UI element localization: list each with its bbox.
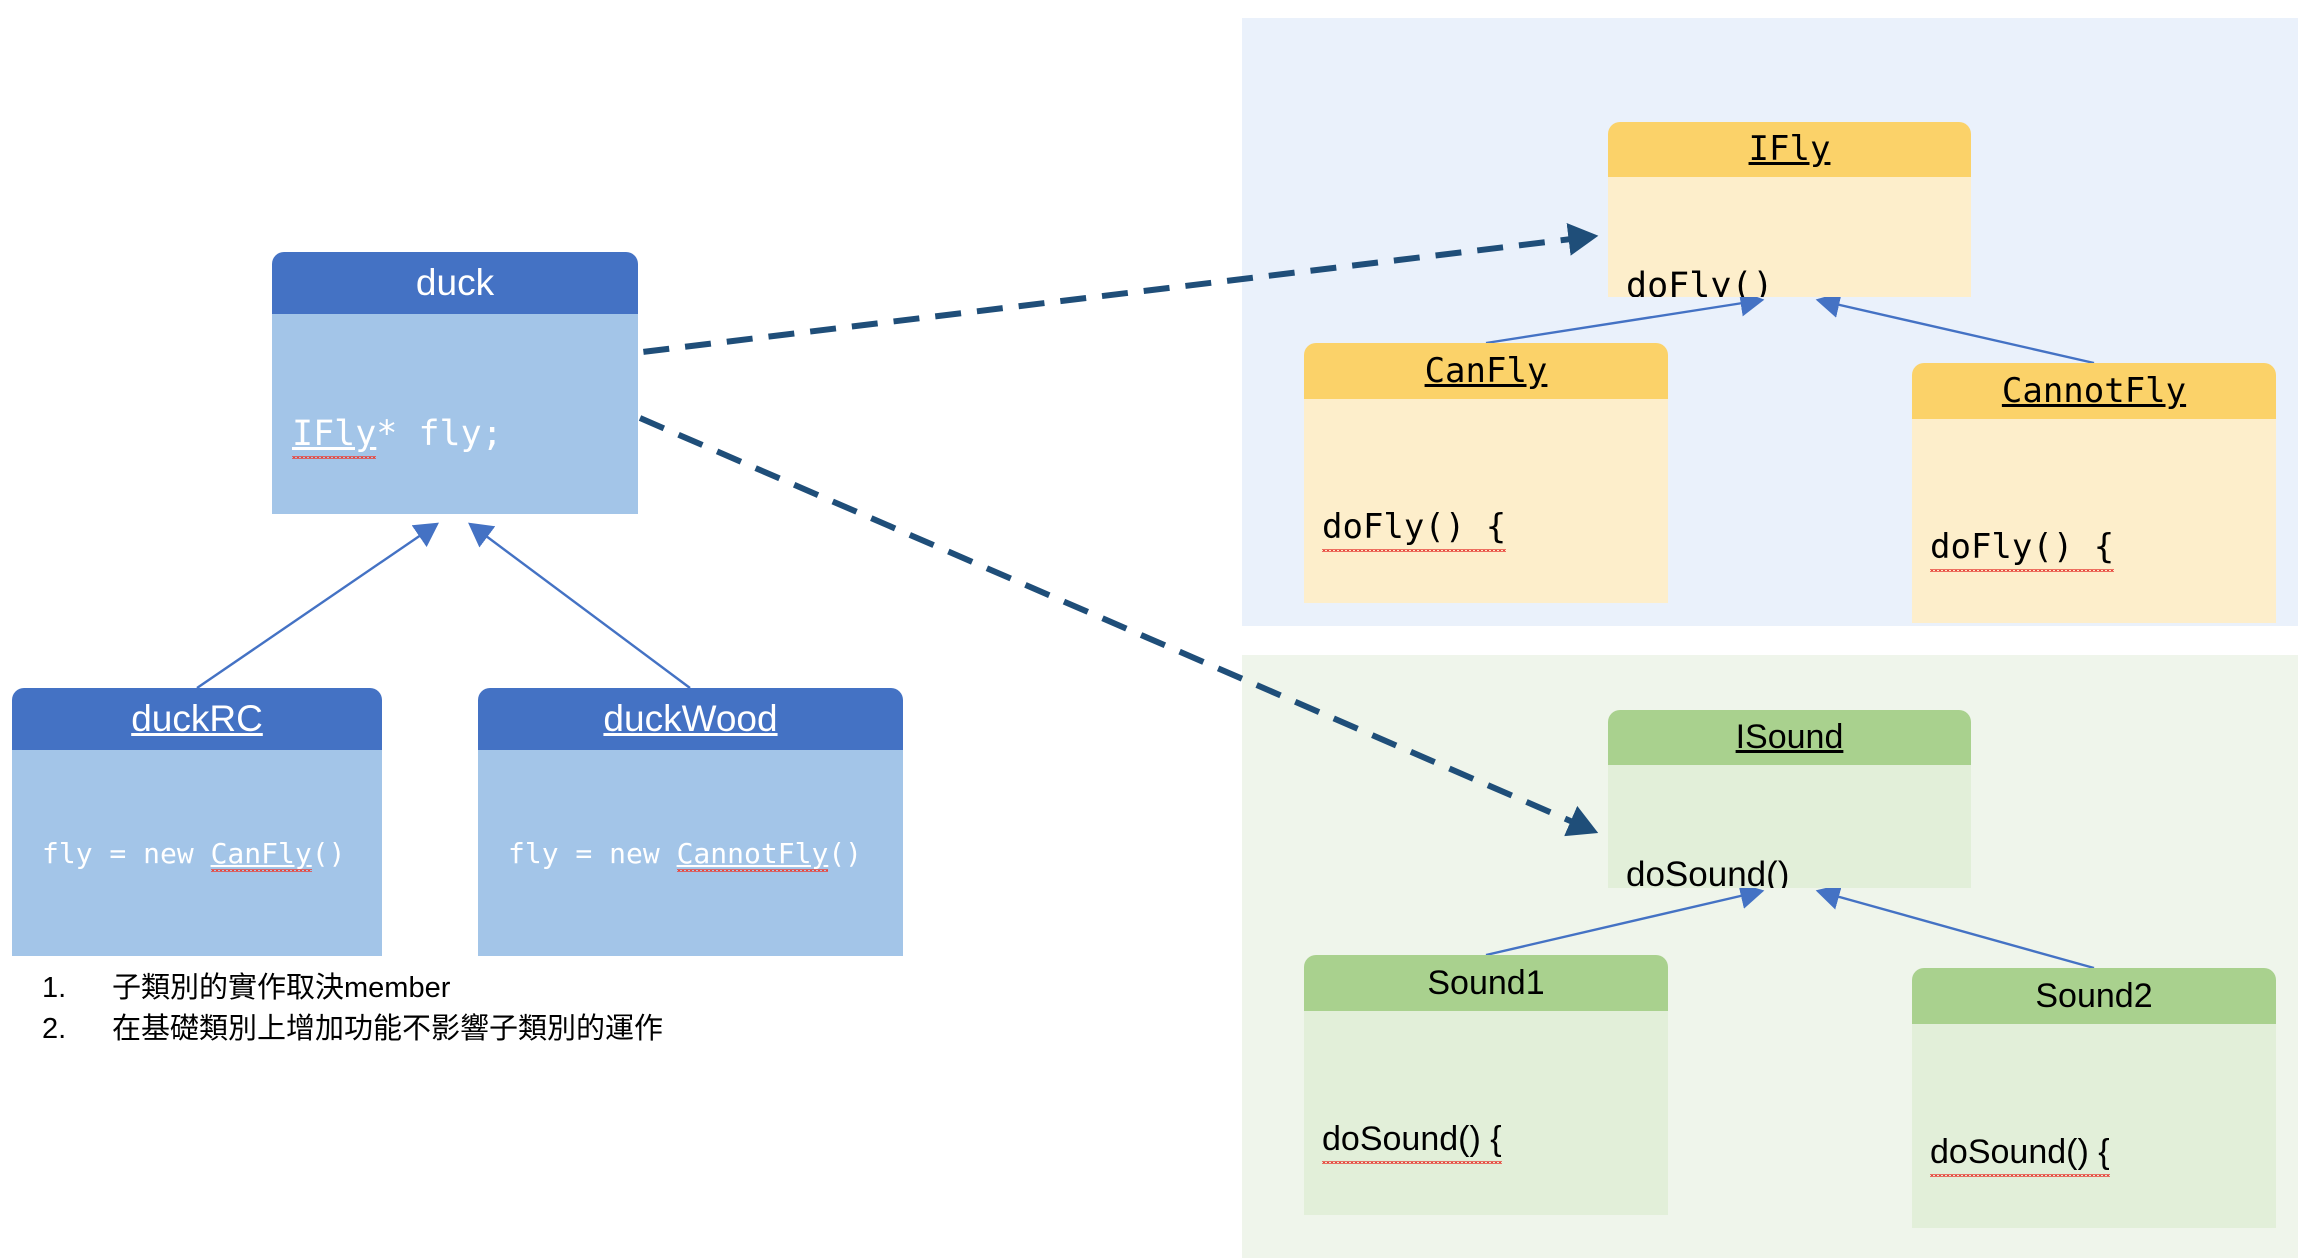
class-body-sound1: doSound() { "Sound1" } [1304,1011,1668,1215]
class-body-ifly: doFly() … [1608,177,1971,297]
duckrc-assign-prefix: fly = new [42,837,211,870]
class-box-sound2[interactable]: Sound2 doSound() { "Sound2" } [1912,968,2276,1228]
duck-attr-fly: IFly* fly; [292,413,638,456]
note-text-2: 在基礎類別上增加功能不影響子類別的運作 [112,1009,663,1050]
class-box-isound[interactable]: ISound doSound() … [1608,710,1971,888]
canfly-signature-text: doFly() { [1322,505,1506,549]
canfly-signature: doFly() { [1322,505,1668,549]
edge-duckwood-to-duck [470,524,690,688]
ifly-method: doFly() [1626,266,1971,297]
notes-list: 1. 子類別的實作取決member 2. 在基礎類別上增加功能不影響子類別的運作 [42,968,663,1050]
duckwood-assign-suffix: () [828,837,862,870]
class-title-isound: ISound [1608,710,1971,765]
class-title-ifly: IFly [1608,122,1971,177]
class-title-duckwood: duckWood [478,688,903,750]
class-body-isound: doSound() … [1608,765,1971,888]
sound2-signature-text: doSound() { [1930,1130,2110,1174]
note-number-2: 2. [42,1009,112,1050]
class-body-canfly: doFly() { "Can fly" } [1304,399,1668,603]
class-title-sound2: Sound2 [1912,968,2276,1024]
class-title-duck: duck [272,252,638,314]
class-box-duckwood[interactable]: duckWood fly = new CannotFly() [478,688,903,956]
class-body-duck: IFly* fly; Isound* sound; … [272,314,638,514]
class-box-duckrc[interactable]: duckRC fly = new CanFly() [12,688,382,956]
list-item: 2. 在基礎類別上增加功能不影響子類別的運作 [42,1009,663,1050]
duckrc-assign-ref: CanFly [211,837,312,870]
note-number-1: 1. [42,968,112,1009]
class-title-isound-text: ISound [1736,710,1844,765]
class-title-cannotfly: CannotFly [1912,363,2276,419]
class-body-duckrc: fly = new CanFly() [12,750,382,956]
class-title-canfly: CanFly [1304,343,1668,399]
class-title-canfly-text: CanFly [1425,343,1548,399]
cannotfly-signature-text: doFly() { [1930,525,2114,569]
class-body-duckwood: fly = new CannotFly() [478,750,903,956]
isound-method: doSound() [1626,854,1971,888]
cannotfly-signature: doFly() { [1930,525,2276,569]
sound2-signature: doSound() { [1930,1130,2276,1174]
class-box-canfly[interactable]: CanFly doFly() { "Can fly" } [1304,343,1668,603]
class-title-duckrc-text: duckRC [131,688,263,750]
class-title-ifly-text: IFly [1749,122,1831,177]
diagram-canvas: duck IFly* fly; Isound* sound; … duckRC … [0,0,2318,1258]
class-box-sound1[interactable]: Sound1 doSound() { "Sound1" } [1304,955,1668,1215]
ifly-method-text: doFly() [1626,266,1774,297]
duckwood-assign-prefix: fly = new [508,837,677,870]
class-box-duck[interactable]: duck IFly* fly; Isound* sound; … [272,252,638,514]
list-item: 1. 子類別的實作取決member [42,968,663,1009]
duck-attr-fly-rest: * fly; [376,414,502,454]
class-body-cannotfly: doFly() { "Cannot fly" } [1912,419,2276,623]
class-box-ifly[interactable]: IFly doFly() … [1608,122,1971,297]
isound-method-text: doSound() [1626,854,1789,888]
sound1-signature: doSound() { [1322,1117,1668,1161]
class-box-cannotfly[interactable]: CannotFly doFly() { "Cannot fly" } [1912,363,2276,623]
class-body-sound2: doSound() { "Sound2" } [1912,1024,2276,1228]
duck-attr-fly-type: IFly [292,413,376,456]
duckrc-assign-suffix: () [312,837,346,870]
class-title-duckrc: duckRC [12,688,382,750]
duckwood-assign-ref: CannotFly [677,837,829,870]
class-title-duckwood-text: duckWood [603,688,777,750]
edge-duckrc-to-duck [197,524,437,688]
class-title-sound1: Sound1 [1304,955,1668,1011]
class-title-cannotfly-text: CannotFly [2002,363,2186,419]
note-text-1: 子類別的實作取決member [112,968,450,1009]
sound1-signature-text: doSound() { [1322,1117,1502,1161]
